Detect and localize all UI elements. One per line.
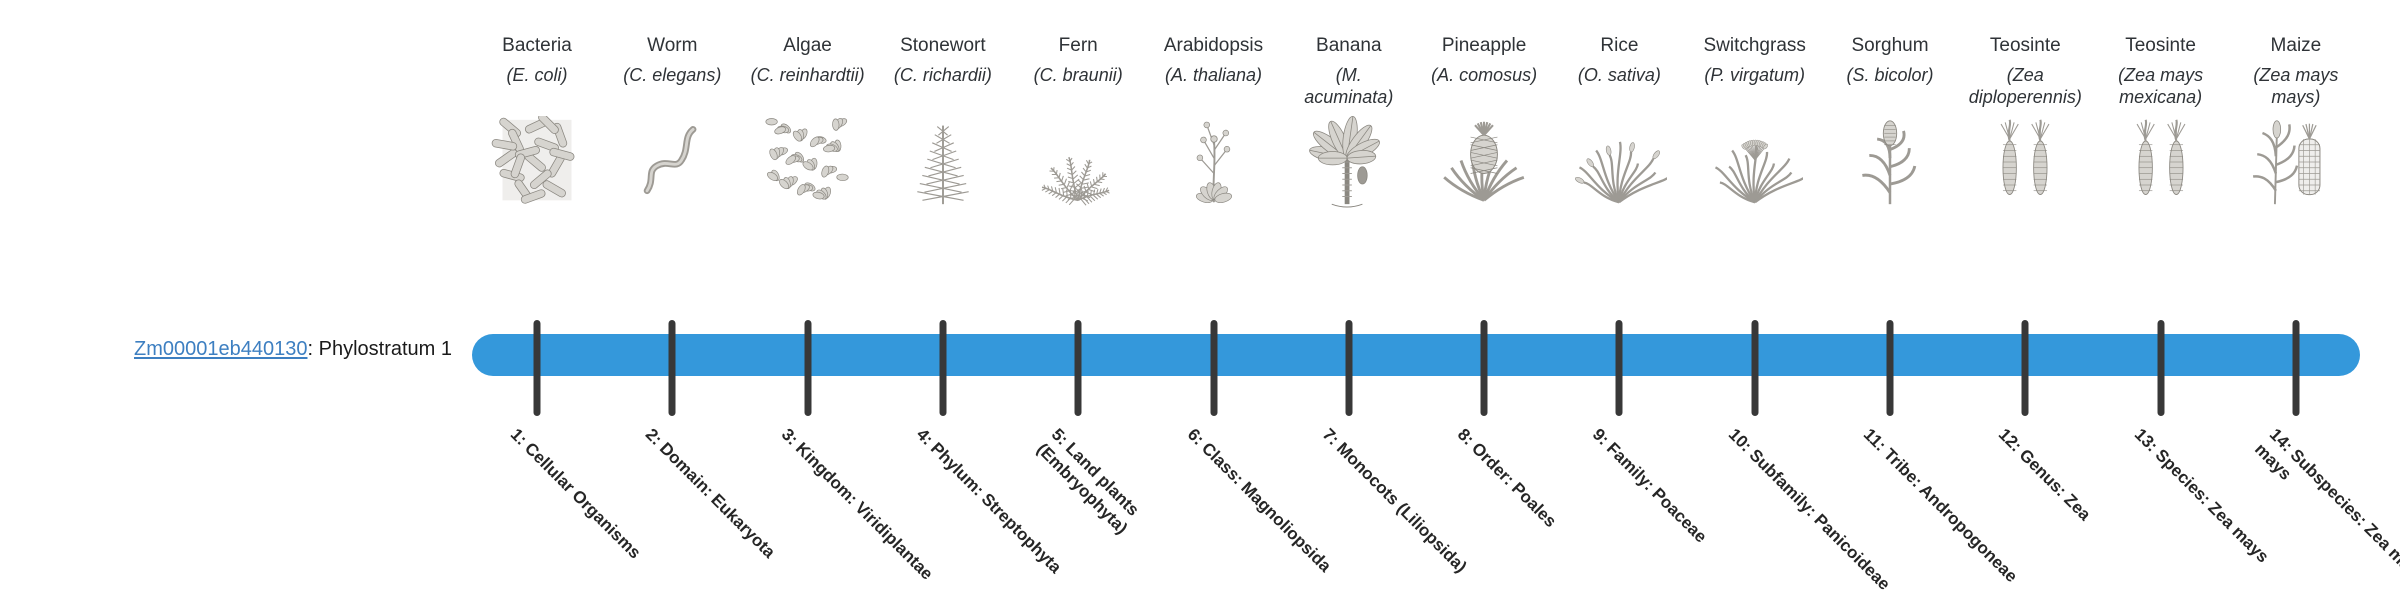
bacteria-icon bbox=[489, 116, 585, 208]
fern-icon bbox=[1030, 116, 1126, 208]
species-column-10: Switchgrass(P. virgatum) bbox=[1695, 34, 1815, 86]
species-common-name: Bacteria bbox=[477, 34, 597, 58]
tick-stratum-4 bbox=[939, 320, 946, 416]
phylostratum-value: Phylostratum 1 bbox=[319, 338, 452, 360]
worm-icon bbox=[624, 116, 720, 208]
species-scientific-name: (Zea mays mexicana) bbox=[2101, 64, 2221, 108]
pineapple-icon bbox=[1436, 116, 1532, 208]
species-common-name: Worm bbox=[612, 34, 732, 58]
arabidopsis-icon bbox=[1166, 116, 1262, 208]
algae-icon bbox=[760, 116, 856, 208]
species-scientific-name: (Zea diploperennis) bbox=[1965, 64, 2085, 108]
stratum-label-14: 14: Subspecies: Zea mays mays bbox=[2250, 424, 2400, 616]
species-column-12: Teosinte(Zea diploperennis) bbox=[1965, 34, 2085, 108]
sorghum-icon bbox=[1842, 116, 1938, 208]
tick-stratum-9 bbox=[1616, 320, 1623, 416]
species-common-name: Switchgrass bbox=[1695, 34, 1815, 58]
gene-phylostratum-label: Zm00001eb440130: Phylostratum 1 bbox=[0, 336, 452, 362]
gene-id-link[interactable]: Zm00001eb440130 bbox=[134, 338, 307, 360]
phylostratum-bar[interactable] bbox=[472, 334, 2360, 376]
tick-stratum-3 bbox=[804, 320, 811, 416]
banana-icon bbox=[1301, 116, 1397, 208]
species-common-name: Banana bbox=[1289, 34, 1409, 58]
species-column-1: Bacteria(E. coli) bbox=[477, 34, 597, 86]
species-scientific-name: (Zea mays mays) bbox=[2236, 64, 2356, 108]
species-column-2: Worm(C. elegans) bbox=[612, 34, 732, 86]
species-scientific-name: (A. comosus) bbox=[1424, 64, 1544, 86]
species-column-7: Banana(M. acuminata) bbox=[1289, 34, 1409, 108]
stonewort-icon bbox=[895, 116, 991, 208]
species-scientific-name: (P. virgatum) bbox=[1695, 64, 1815, 86]
switchgrass-icon bbox=[1707, 116, 1803, 208]
species-common-name: Arabidopsis bbox=[1154, 34, 1274, 58]
species-common-name: Algae bbox=[748, 34, 868, 58]
species-common-name: Rice bbox=[1559, 34, 1679, 58]
gene-label-separator: : bbox=[307, 338, 318, 360]
species-column-3: Algae(C. reinhardtii) bbox=[748, 34, 868, 86]
tick-stratum-6 bbox=[1210, 320, 1217, 416]
rice-icon bbox=[1571, 116, 1667, 208]
teosinte-ear-icon bbox=[1977, 116, 2073, 208]
species-common-name: Fern bbox=[1018, 34, 1138, 58]
species-scientific-name: (C. reinhardtii) bbox=[748, 64, 868, 86]
species-common-name: Teosinte bbox=[1965, 34, 2085, 58]
tick-stratum-1 bbox=[534, 320, 541, 416]
species-column-14: Maize(Zea mays mays) bbox=[2236, 34, 2356, 108]
tick-stratum-7 bbox=[1345, 320, 1352, 416]
tick-stratum-5 bbox=[1075, 320, 1082, 416]
species-common-name: Maize bbox=[2236, 34, 2356, 58]
species-scientific-name: (O. sativa) bbox=[1559, 64, 1679, 86]
phylostratigraphy-figure: Zm00001eb440130: Phylostratum 1 Bacteria… bbox=[0, 0, 2400, 580]
species-column-6: Arabidopsis(A. thaliana) bbox=[1154, 34, 1274, 86]
species-column-11: Sorghum(S. bicolor) bbox=[1830, 34, 1950, 86]
species-common-name: Sorghum bbox=[1830, 34, 1950, 58]
species-scientific-name: (C. richardii) bbox=[883, 64, 1003, 86]
species-column-8: Pineapple(A. comosus) bbox=[1424, 34, 1544, 86]
species-column-5: Fern(C. braunii) bbox=[1018, 34, 1138, 86]
species-scientific-name: (A. thaliana) bbox=[1154, 64, 1274, 86]
tick-stratum-8 bbox=[1481, 320, 1488, 416]
species-scientific-name: (C. elegans) bbox=[612, 64, 732, 86]
species-common-name: Stonewort bbox=[883, 34, 1003, 58]
tick-stratum-2 bbox=[669, 320, 676, 416]
species-column-4: Stonewort(C. richardii) bbox=[883, 34, 1003, 86]
species-column-9: Rice(O. sativa) bbox=[1559, 34, 1679, 86]
species-column-13: Teosinte(Zea mays mexicana) bbox=[2101, 34, 2221, 108]
species-scientific-name: (M. acuminata) bbox=[1289, 64, 1409, 108]
tick-stratum-11 bbox=[1887, 320, 1894, 416]
species-scientific-name: (S. bicolor) bbox=[1830, 64, 1950, 86]
species-scientific-name: (C. braunii) bbox=[1018, 64, 1138, 86]
tick-stratum-13 bbox=[2157, 320, 2164, 416]
maize-ear-icon bbox=[2248, 116, 2344, 208]
species-common-name: Teosinte bbox=[2101, 34, 2221, 58]
species-common-name: Pineapple bbox=[1424, 34, 1544, 58]
tick-stratum-12 bbox=[2022, 320, 2029, 416]
tick-stratum-10 bbox=[1751, 320, 1758, 416]
species-scientific-name: (E. coli) bbox=[477, 64, 597, 86]
tick-stratum-14 bbox=[2292, 320, 2299, 416]
teosinte-mexicana-icon bbox=[2113, 116, 2209, 208]
